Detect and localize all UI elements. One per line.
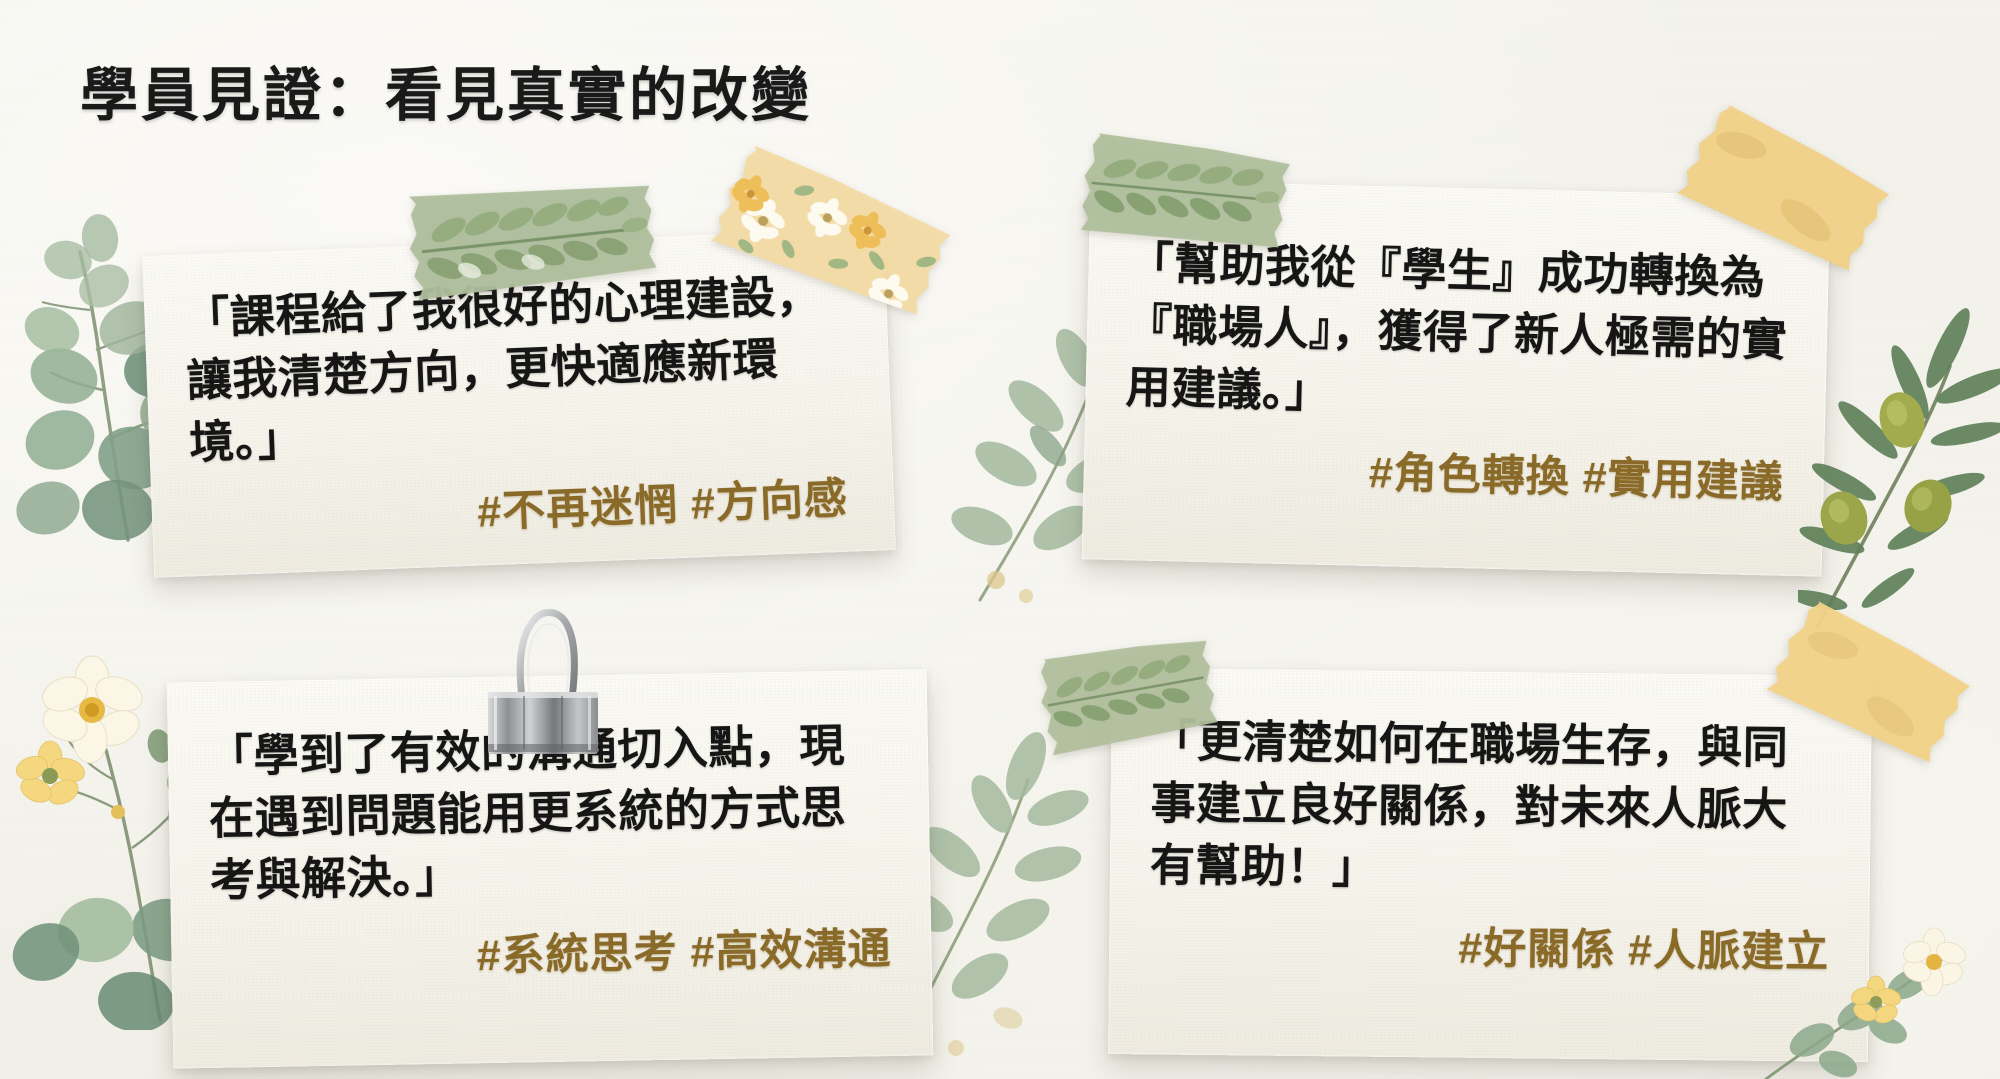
testimonial-tags-1: #不再迷惘 #方向感 <box>476 464 849 540</box>
green-leaf-washi-tape-icon <box>403 175 664 315</box>
testimonial-tags-3: #系統思考 #高效溝通 <box>476 914 892 983</box>
slide-canvas: 學員見證：看見真實的改變 「課程給了我很好的心理建設，讓我清楚方向，更快適應新環… <box>0 0 2000 1079</box>
binder-clip-icon <box>478 592 608 762</box>
page-title: 學員見證：看見真實的改變 <box>80 48 812 132</box>
testimonial-tags-2: #角色轉換 #實用建議 <box>1368 438 1784 510</box>
testimonial-quote-2: 「幫助我從『學生』成功轉換為『職場人』，獲得了新人極需的實用建議。」 <box>1125 232 1789 434</box>
olive-branch-right-icon <box>1798 270 2000 640</box>
testimonial-tags-4: #好關係 #人脈建立 <box>1458 914 1829 980</box>
testimonial-quote-4: 「更清楚如何在職場生存，與同事建立良好關係，對未來人脈大有幫助！」 <box>1150 710 1832 903</box>
